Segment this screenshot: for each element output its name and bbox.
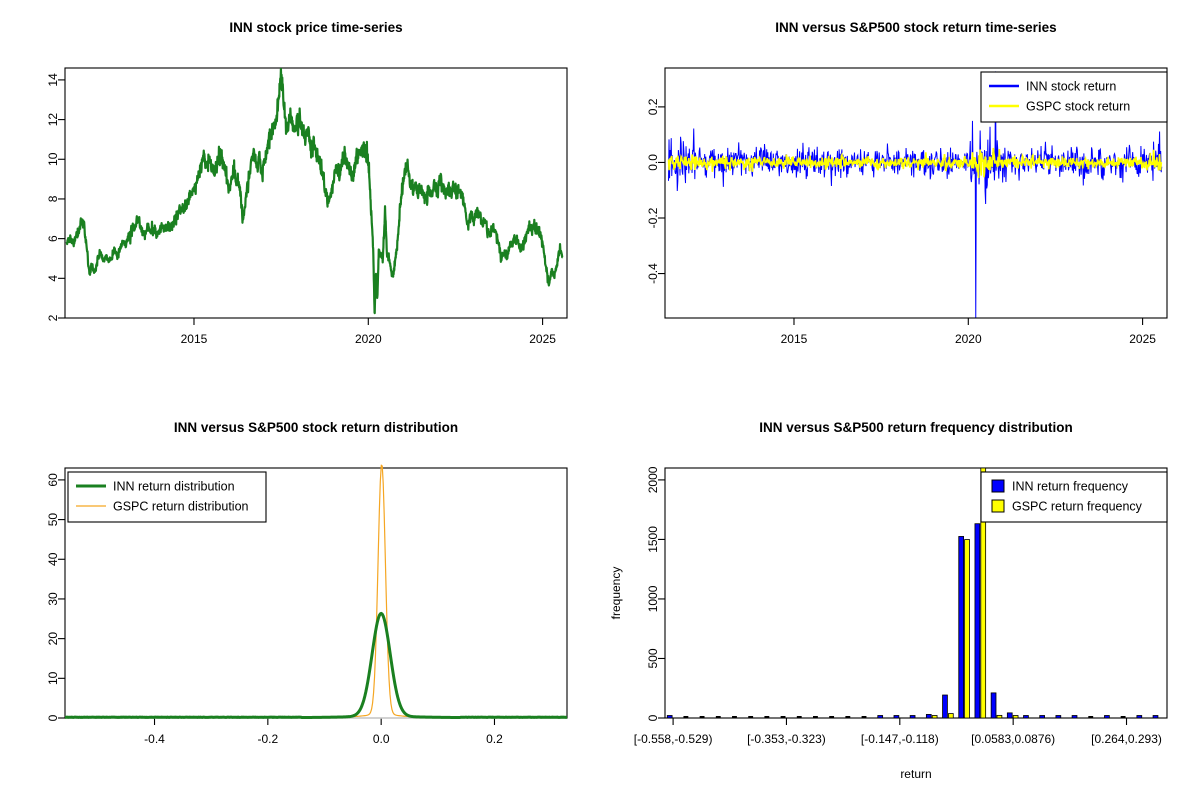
legend-frequency-label: GSPC return frequency: [1012, 500, 1143, 514]
table-row: [683, 716, 688, 718]
table-row: [1024, 716, 1029, 719]
gspc-return-line: [668, 148, 1161, 178]
table-row: [878, 716, 883, 719]
panel-title: INN versus S&P500 stock return time-seri…: [775, 20, 1056, 35]
table-row: [700, 716, 705, 718]
table-row: [910, 716, 915, 719]
table-row: [1056, 716, 1061, 719]
y-tick-label: 1000: [646, 585, 660, 612]
table-row: [716, 716, 721, 718]
table-row: [1040, 716, 1045, 719]
table-row: [1137, 716, 1142, 719]
table-row: [797, 716, 802, 718]
legend-density-label: INN return distribution: [113, 480, 235, 494]
x-axis-label: return: [900, 767, 931, 781]
panel-inn-gspc-return-frequency: INN versus S&P500 return frequency distr…: [600, 400, 1200, 800]
x-tick-label: 2020: [355, 332, 382, 346]
legend-return-timeseries-label: INN stock return: [1026, 80, 1116, 94]
table-row: [781, 716, 786, 718]
table-row: [991, 693, 996, 718]
inn-gspc-frequency-chart: INN versus S&P500 return frequency distr…: [600, 400, 1200, 800]
x-tick-label: [-0.147,-0.118): [861, 732, 939, 746]
panel-inn-price-timeseries: INN stock price time-series2468101214201…: [0, 0, 600, 400]
y-tick-label: 12: [46, 113, 60, 127]
table-row: [965, 540, 970, 718]
table-row: [862, 716, 867, 718]
legend-frequency-label: INN return frequency: [1012, 480, 1129, 494]
x-tick-label: -0.2: [257, 732, 278, 746]
table-row: [926, 714, 931, 718]
panel-inn-gspc-return-density: INN versus S&P500 stock return distribut…: [0, 400, 600, 800]
y-tick-label: 14: [46, 73, 60, 87]
table-row: [1153, 716, 1158, 719]
y-tick-label: -0.4: [646, 263, 660, 284]
panel-title: INN versus S&P500 stock return distribut…: [174, 420, 458, 435]
table-row: [1088, 716, 1093, 718]
table-row: [948, 714, 953, 718]
y-tick-label: 6: [46, 235, 60, 242]
x-tick-label: 2020: [955, 332, 982, 346]
y-tick-label: 500: [646, 648, 660, 668]
x-tick-label: 0.2: [486, 732, 503, 746]
y-tick-label: 1500: [646, 526, 660, 553]
inn-gspc-density-chart: INN versus S&P500 stock return distribut…: [0, 400, 600, 800]
x-tick-label: 2025: [529, 332, 556, 346]
x-tick-label: [0.0583,0.0876): [971, 732, 1055, 746]
y-tick-label: 2000: [646, 466, 660, 493]
table-row: [932, 716, 937, 719]
y-tick-label: 2: [46, 314, 60, 321]
y-tick-label: 10: [46, 671, 60, 685]
table-row: [1104, 716, 1109, 719]
y-tick-label: 40: [46, 552, 60, 566]
y-tick-label: 0.2: [646, 98, 660, 115]
price-line: [67, 69, 563, 313]
panel-inn-gspc-return-timeseries: INN versus S&P500 stock return time-seri…: [600, 0, 1200, 400]
x-tick-label: 2015: [181, 332, 208, 346]
y-tick-label: -0.2: [646, 207, 660, 228]
plot-box: [65, 68, 567, 318]
y-tick-label: 8: [46, 195, 60, 202]
x-tick-label: 2025: [1129, 332, 1156, 346]
table-row: [845, 716, 850, 718]
table-row: [1007, 713, 1012, 718]
table-row: [894, 716, 899, 719]
inn-price-chart: INN stock price time-series2468101214201…: [0, 0, 600, 400]
y-tick-label: 0.0: [646, 154, 660, 171]
figure-panel-grid: INN stock price time-series2468101214201…: [0, 0, 1200, 800]
table-row: [1072, 716, 1077, 719]
y-tick-label: 0: [46, 714, 60, 721]
legend-frequency-swatch: [992, 500, 1004, 512]
y-tick-label: 4: [46, 275, 60, 282]
panel-title: INN versus S&P500 return frequency distr…: [759, 420, 1073, 435]
table-row: [813, 716, 818, 718]
legend-frequency-swatch: [992, 480, 1004, 492]
table-row: [764, 716, 769, 718]
inn-density-line: [65, 613, 567, 717]
table-row: [667, 716, 672, 719]
table-row: [1121, 716, 1126, 718]
table-row: [997, 715, 1002, 718]
x-tick-label: 2015: [781, 332, 808, 346]
table-row: [975, 524, 980, 718]
table-row: [748, 716, 753, 718]
x-tick-label: 0.0: [373, 732, 390, 746]
y-tick-label: 20: [46, 632, 60, 646]
x-tick-label: [-0.558,-0.529): [634, 732, 713, 746]
table-row: [943, 695, 948, 718]
table-row: [1013, 716, 1018, 719]
x-tick-label: [-0.353,-0.323): [747, 732, 826, 746]
legend-density-label: GSPC return distribution: [113, 500, 249, 514]
panel-title: INN stock price time-series: [229, 20, 402, 35]
table-row: [959, 536, 964, 718]
y-tick-label: 0: [646, 714, 660, 721]
legend-return-timeseries-label: GSPC stock return: [1026, 100, 1130, 114]
y-tick-label: 30: [46, 592, 60, 606]
inn-gspc-return-chart: INN versus S&P500 stock return time-seri…: [600, 0, 1200, 400]
x-tick-label: [0.264,0.293): [1091, 732, 1162, 746]
table-row: [829, 716, 834, 718]
y-axis-label: frequency: [609, 567, 623, 620]
y-tick-label: 50: [46, 513, 60, 527]
x-tick-label: -0.4: [144, 732, 165, 746]
table-row: [732, 716, 737, 718]
y-tick-label: 10: [46, 152, 60, 166]
y-tick-label: 60: [46, 473, 60, 487]
